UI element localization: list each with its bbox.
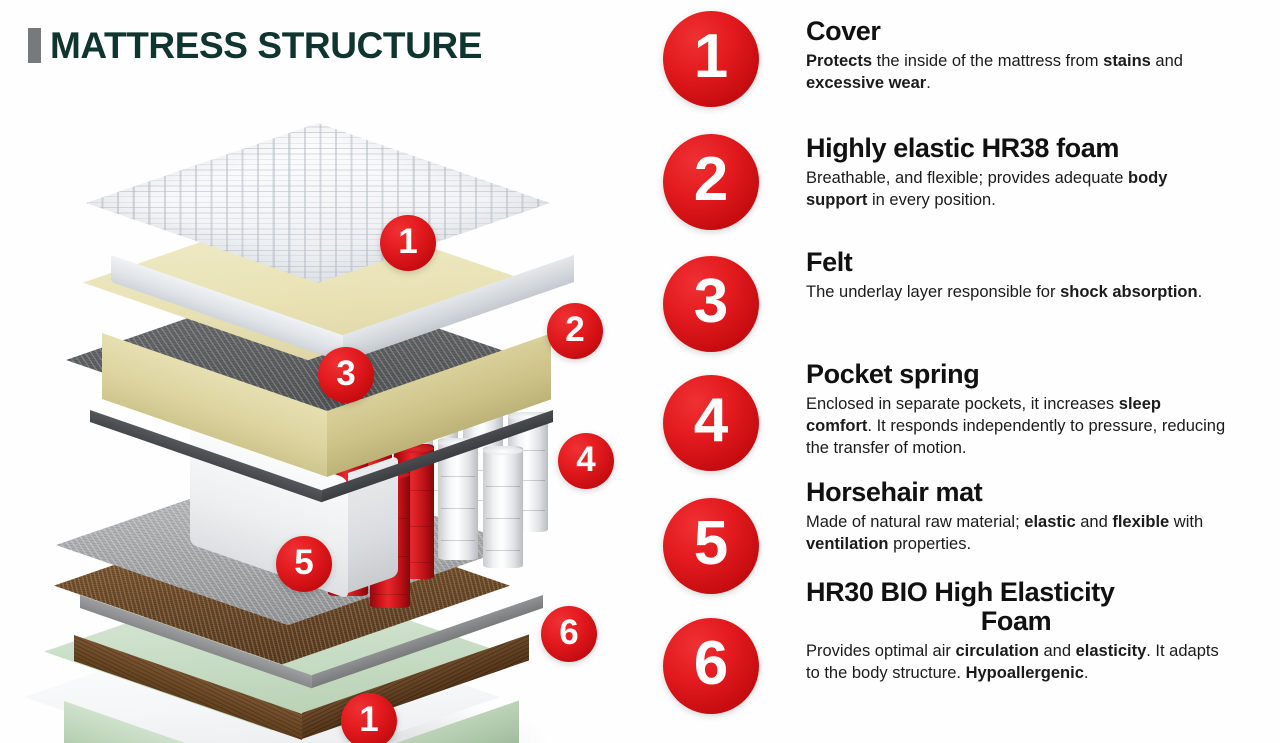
marker-number: 5 bbox=[294, 545, 313, 580]
entry-body: Breathable, and flexible; provides adequ… bbox=[806, 168, 1226, 212]
entry-body: Made of natural raw material; elastic an… bbox=[806, 512, 1226, 556]
legend-entry-hr38-foam: Highly elastic HR38 foam Breathable, and… bbox=[806, 134, 1226, 212]
marker-number: 2 bbox=[694, 149, 728, 211]
entry-title: HR30 BIO High Elasticity Foam bbox=[806, 578, 1226, 636]
legend-entry-horsehair-mat: Horsehair mat Made of natural raw materi… bbox=[806, 478, 1226, 556]
pocket-spring-coil bbox=[483, 446, 523, 568]
entry-body: Protects the inside of the mattress from… bbox=[806, 51, 1226, 95]
marker-number: 4 bbox=[694, 390, 728, 452]
illustration-marker-base-cover[interactable]: 1 bbox=[341, 693, 397, 743]
legend-entry-cover: Cover Protects the inside of the mattres… bbox=[806, 17, 1226, 95]
legend-entry-pocket-spring: Pocket spring Enclosed in separate pocke… bbox=[806, 360, 1226, 459]
legend-marker-3[interactable]: 3 bbox=[663, 256, 759, 352]
marker-number: 1 bbox=[359, 702, 378, 737]
entry-title: Cover bbox=[806, 17, 1226, 46]
marker-number: 1 bbox=[694, 26, 728, 88]
page-title-block: MATTRESS STRUCTURE bbox=[28, 27, 482, 64]
legend-marker-2[interactable]: 2 bbox=[663, 134, 759, 230]
marker-number: 4 bbox=[576, 442, 595, 477]
legend-entry-hr30-foam: HR30 BIO High Elasticity Foam Provides o… bbox=[806, 578, 1226, 685]
mattress-illustration: 1 2 3 4 5 6 1 bbox=[90, 95, 620, 725]
entry-body: Enclosed in separate pockets, it increas… bbox=[806, 394, 1226, 459]
entry-title-line1: HR30 BIO High Elasticity bbox=[806, 577, 1114, 607]
entry-title-line2: Foam bbox=[806, 607, 1226, 636]
page-title: MATTRESS STRUCTURE bbox=[50, 27, 482, 64]
legend-marker-6[interactable]: 6 bbox=[663, 618, 759, 714]
entry-title: Pocket spring bbox=[806, 360, 1226, 389]
illustration-marker-hr30-foam[interactable]: 6 bbox=[541, 606, 597, 662]
infographic-page: MATTRESS STRUCTURE bbox=[0, 0, 1280, 743]
marker-number: 2 bbox=[565, 312, 584, 347]
legend-marker-1[interactable]: 1 bbox=[663, 11, 759, 107]
marker-number: 3 bbox=[336, 356, 355, 391]
marker-number: 5 bbox=[694, 513, 728, 575]
entry-title: Horsehair mat bbox=[806, 478, 1226, 507]
entry-title: Highly elastic HR38 foam bbox=[806, 134, 1226, 163]
illustration-marker-hr38-foam[interactable]: 2 bbox=[547, 303, 603, 359]
title-bullet-icon bbox=[28, 28, 41, 63]
marker-number: 6 bbox=[694, 633, 728, 695]
marker-number: 6 bbox=[559, 615, 578, 650]
legend-marker-5[interactable]: 5 bbox=[663, 498, 759, 594]
illustration-marker-felt-upper[interactable]: 3 bbox=[318, 347, 374, 403]
marker-number: 3 bbox=[694, 271, 728, 333]
legend-marker-4[interactable]: 4 bbox=[663, 375, 759, 471]
entry-title: Felt bbox=[806, 248, 1226, 277]
marker-number: 1 bbox=[398, 224, 417, 259]
illustration-marker-pocket-spring[interactable]: 4 bbox=[558, 433, 614, 489]
illustration-marker-cover[interactable]: 1 bbox=[380, 215, 436, 271]
illustration-marker-edge-support[interactable]: 5 bbox=[276, 536, 332, 592]
entry-body: Provides optimal air circulation and ela… bbox=[806, 641, 1226, 685]
entry-body: The underlay layer responsible for shock… bbox=[806, 282, 1226, 304]
legend-entry-felt: Felt The underlay layer responsible for … bbox=[806, 248, 1226, 304]
